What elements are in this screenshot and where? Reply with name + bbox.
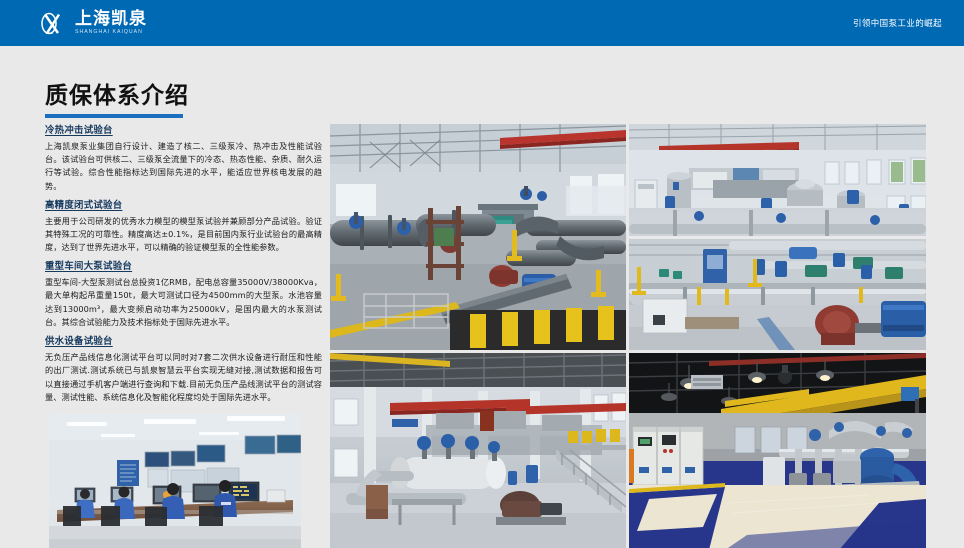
section-heading: 重型车间大泵试验台 [45,261,322,273]
section-body: 上海凯泉泵业集团自行设计、建造了核二、三级泵冷、热冲击及性能试验台。该试验台可供… [45,140,322,193]
presentation-slide: 上海凯泉 SHANGHAI KAIQUAN 引领中国泵工业的崛起 质保体系介绍 … [0,0,964,548]
section-closed-loop-rig: 高精度闭式试验台 主要用于公司研发的优秀水力模型的模型泵试验并兼顾部分产品试验。… [45,200,322,255]
section-heading: 高精度闭式试验台 [45,200,322,212]
section-heading: 供水设备试验台 [45,336,322,348]
brand-logo[interactable]: 上海凯泉 SHANGHAI KAIQUAN [38,8,147,38]
section-body: 重型车间-大型泵测试台总投资1亿RMB，配电总容量35000V/38000Kva… [45,276,322,329]
section-heading: 冷热冲击试验台 [45,125,322,137]
photo-water-supply-lab [629,353,926,548]
header-tagline: 引领中国泵工业的崛起 [853,17,942,29]
brand-name-cn: 上海凯泉 [75,11,147,28]
title-underline-rule [45,114,183,118]
page-title-area: 质保体系介绍 [45,84,335,118]
section-water-supply-rig: 供水设备试验台 无负压产品线信息化测试平台可以同时对7套二次供水设备进行耐压和性… [45,336,322,404]
header-bar: 上海凯泉 SHANGHAI KAIQUAN 引领中国泵工业的崛起 [0,0,964,46]
slide-canvas: 质保体系介绍 冷热冲击试验台 上海凯泉泵业集团自行设计、建造了核二、三级泵冷、热… [0,46,964,548]
section-body: 主要用于公司研发的优秀水力模型的模型泵试验并兼顾部分产品试验。验证其特殊工况的可… [45,215,322,255]
page-title: 质保体系介绍 [45,84,335,109]
photo-closed-loop-test-rig [629,124,926,236]
photo-control-room [49,414,301,548]
slide-sheet: 质保体系介绍 冷热冲击试验台 上海凯泉泵业集团自行设计、建造了核二、三级泵冷、热… [8,46,956,540]
kaiquan-logo-icon [38,8,68,38]
photo-pump-piping-rig [629,239,926,350]
photo-heavy-workshop [330,353,626,548]
section-thermal-shock: 冷热冲击试验台 上海凯泉泵业集团自行设计、建造了核二、三级泵冷、热冲击及性能试验… [45,125,322,193]
photo-large-pump-test-hall [330,124,626,350]
description-column: 冷热冲击试验台 上海凯泉泵业集团自行设计、建造了核二、三级泵冷、热冲击及性能试验… [45,125,322,411]
section-body: 无负压产品线信息化测试平台可以同时对7套二次供水设备进行耐压和性能的出厂测试.测… [45,351,322,404]
brand-name-en: SHANGHAI KAIQUAN [75,30,147,35]
section-heavy-workshop-rig: 重型车间大泵试验台 重型车间-大型泵测试台总投资1亿RMB，配电总容量35000… [45,261,322,329]
